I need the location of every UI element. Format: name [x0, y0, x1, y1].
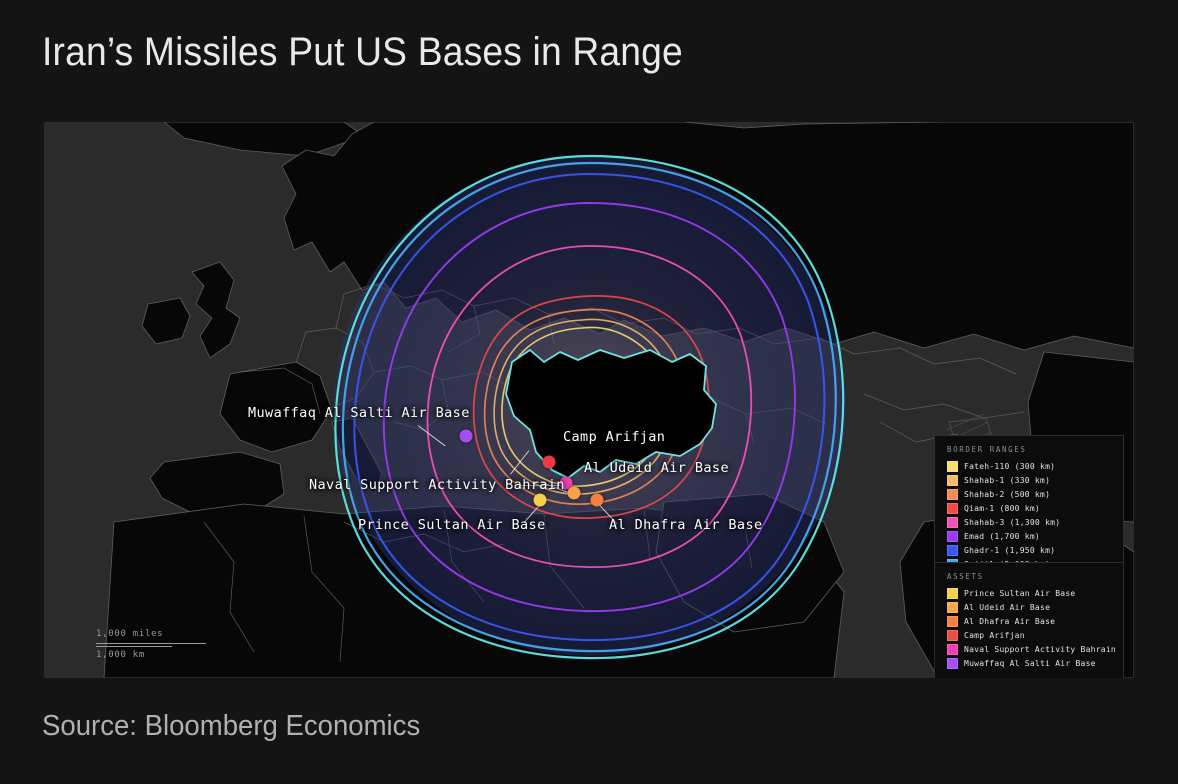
scale-miles-label: 1,000 miles — [96, 628, 206, 641]
legend-asset-row[interactable]: Al Udeid Air Base — [947, 602, 1111, 613]
legend-range-swatch-icon — [947, 475, 958, 486]
scale-miles-rule — [96, 643, 206, 644]
map-label-muwaffaq-al-salti-air-base: Muwaffaq Al Salti Air Base — [248, 405, 470, 421]
legend-assets-heading: ASSETS — [947, 572, 1111, 581]
legend-range-swatch-icon — [947, 489, 958, 500]
legend-border-ranges-heading: BORDER RANGES — [947, 445, 1111, 454]
map-label-al-udeid-air-base: Al Udeid Air Base — [584, 460, 729, 476]
legend-range-row[interactable]: Qiam-1 (800 km) — [947, 503, 1111, 514]
legend-range-label: Shahab-3 (1,300 km) — [964, 518, 1060, 527]
legend-range-row[interactable]: Shahab-1 (330 km) — [947, 475, 1111, 486]
legend-range-label: Fateh-110 (300 km) — [964, 462, 1055, 471]
legend-range-row[interactable]: Shahab-3 (1,300 km) — [947, 517, 1111, 528]
legend-range-row[interactable]: Fateh-110 (300 km) — [947, 461, 1111, 472]
legend-range-swatch-icon — [947, 531, 958, 542]
legend-range-label: Shahab-1 (330 km) — [964, 476, 1050, 485]
scale-km-rule — [96, 646, 172, 647]
legend-asset-swatch-icon — [947, 588, 958, 599]
legend-asset-label: Muwaffaq Al Salti Air Base — [964, 659, 1096, 668]
legend-asset-row[interactable]: Camp Arifjan — [947, 630, 1111, 641]
scale-km-label: 1,000 km — [96, 649, 206, 662]
scale-bar: 1,000 miles 1,000 km — [96, 628, 206, 662]
legend-asset-swatch-icon — [947, 602, 958, 613]
map-label-naval-support-activity-bahrain: Naval Support Activity Bahrain — [309, 477, 565, 493]
legend-range-row[interactable]: Ghadr-1 (1,950 km) — [947, 545, 1111, 556]
legend-asset-label: Prince Sultan Air Base — [964, 589, 1075, 598]
legend-asset-row[interactable]: Naval Support Activity Bahrain — [947, 644, 1111, 655]
legend-asset-label: Naval Support Activity Bahrain — [964, 645, 1116, 654]
legend-asset-label: Al Dhafra Air Base — [964, 617, 1055, 626]
legend-asset-swatch-icon — [947, 630, 958, 641]
legend-asset-label: Camp Arifjan — [964, 631, 1025, 640]
source-note: Source: Bloomberg Economics — [42, 710, 420, 743]
marker-muwaffaq-al-salti-air-base[interactable] — [460, 430, 473, 443]
map-label-prince-sultan-air-base: Prince Sultan Air Base — [358, 517, 546, 533]
legend-range-label: Qiam-1 (800 km) — [964, 504, 1040, 513]
legend-range-swatch-icon — [947, 503, 958, 514]
marker-al-dhafra-air-base[interactable] — [591, 494, 604, 507]
map-label-camp-arifjan: Camp Arifjan — [563, 429, 665, 445]
map-figure[interactable]: Muwaffaq Al Salti Air Base Camp Arifjan … — [44, 122, 1134, 678]
legend-range-row[interactable]: Shahab-2 (500 km) — [947, 489, 1111, 500]
legend-asset-label: Al Udeid Air Base — [964, 603, 1050, 612]
map-label-al-dhafra-air-base: Al Dhafra Air Base — [609, 517, 763, 533]
legend-asset-row[interactable]: Al Dhafra Air Base — [947, 616, 1111, 627]
marker-prince-sultan-air-base[interactable] — [534, 494, 547, 507]
legend-range-row[interactable]: Emad (1,700 km) — [947, 531, 1111, 542]
marker-al-udeid-air-base[interactable] — [568, 487, 581, 500]
legend-asset-swatch-icon — [947, 658, 958, 669]
legend-range-label: Ghadr-1 (1,950 km) — [964, 546, 1055, 555]
legend-range-swatch-icon — [947, 545, 958, 556]
legend-asset-swatch-icon — [947, 644, 958, 655]
page-title: Iran’s Missiles Put US Bases in Range — [42, 30, 683, 75]
marker-camp-arifjan[interactable] — [543, 456, 556, 469]
legend-range-swatch-icon — [947, 517, 958, 528]
legend-range-label: Shahab-2 (500 km) — [964, 490, 1050, 499]
legend-range-swatch-icon — [947, 461, 958, 472]
legend-asset-swatch-icon — [947, 616, 958, 627]
legend-range-label: Emad (1,700 km) — [964, 532, 1040, 541]
legend-asset-row[interactable]: Muwaffaq Al Salti Air Base — [947, 658, 1111, 669]
legend-assets: ASSETS Prince Sultan Air BaseAl Udeid Ai… — [934, 562, 1124, 678]
legend-assets-rows: Prince Sultan Air BaseAl Udeid Air BaseA… — [947, 588, 1111, 669]
legend-asset-row[interactable]: Prince Sultan Air Base — [947, 588, 1111, 599]
